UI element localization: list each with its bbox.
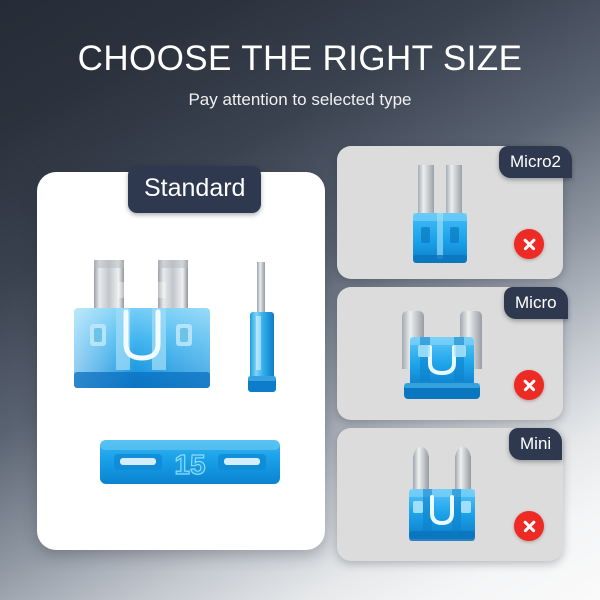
reject-x-icon <box>514 229 544 259</box>
amp-rating-label: 15 <box>174 449 205 480</box>
page-title: CHOOSE THE RIGHT SIZE <box>0 38 600 80</box>
reject-x-icon <box>514 511 544 541</box>
micro2-badge: Micro2 <box>499 146 572 178</box>
micro-badge: Micro <box>504 287 568 319</box>
poster-root: CHOOSE THE RIGHT SIZE Pay attention to s… <box>0 0 600 600</box>
standard-fuse-front-view <box>66 252 218 404</box>
reject-x-icon <box>514 370 544 400</box>
micro-fuse <box>396 303 488 405</box>
standard-fuse-side-view <box>240 258 284 400</box>
mini-fuse <box>399 443 485 547</box>
page-subtitle: Pay attention to selected type <box>0 89 600 111</box>
mini-badge: Mini <box>509 428 562 460</box>
standard-fuse-top-view: 15 <box>98 436 282 488</box>
header: CHOOSE THE RIGHT SIZE Pay attention to s… <box>0 38 600 111</box>
micro2-fuse <box>401 163 479 267</box>
standard-badge: Standard <box>128 166 261 213</box>
